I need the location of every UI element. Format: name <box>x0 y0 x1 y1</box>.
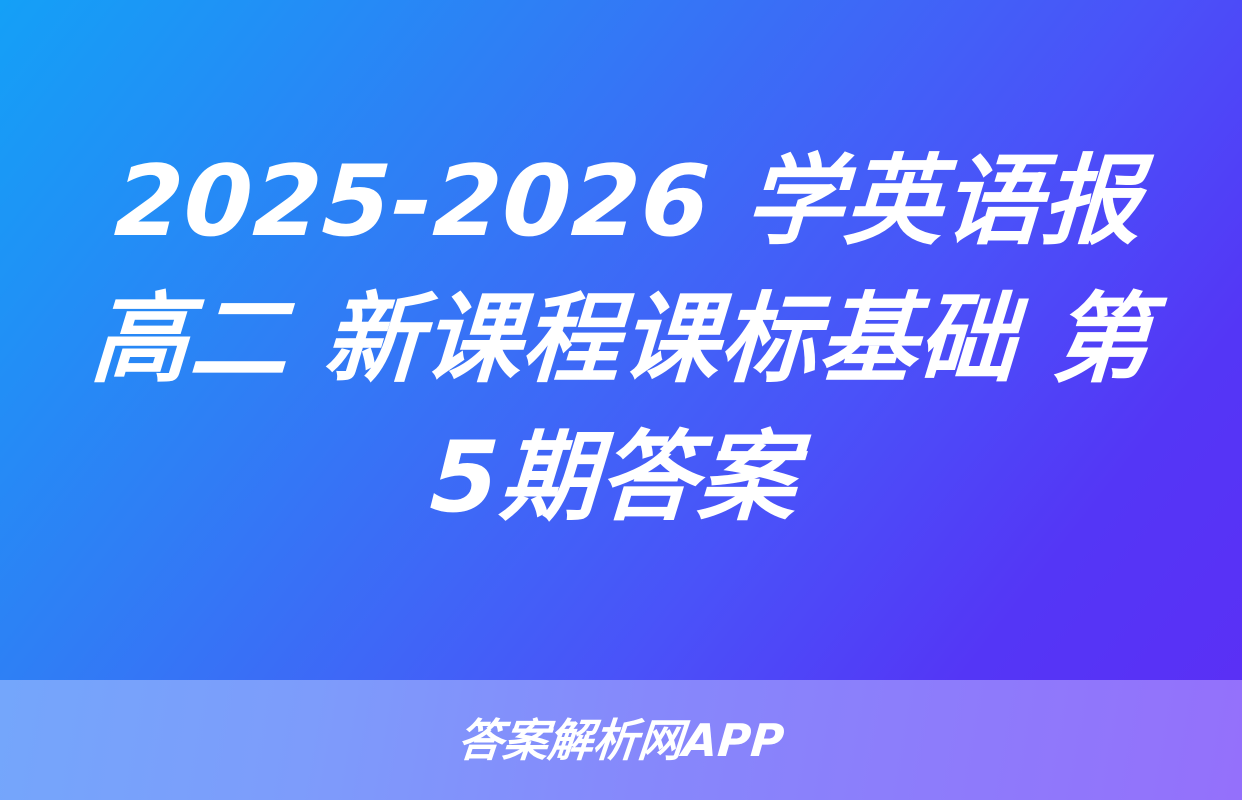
poster-canvas: 2025-2026 学英语报 高二 新课程课标基础 第5期答案 答案解析网APP <box>0 0 1242 800</box>
brand-watermark: 答案解析网APP <box>456 718 786 763</box>
footer-brand-band: 答案解析网APP <box>0 680 1242 800</box>
page-title: 2025-2026 学英语报 高二 新课程课标基础 第5期答案 <box>60 133 1182 547</box>
title-area: 2025-2026 学英语报 高二 新课程课标基础 第5期答案 <box>0 0 1242 680</box>
